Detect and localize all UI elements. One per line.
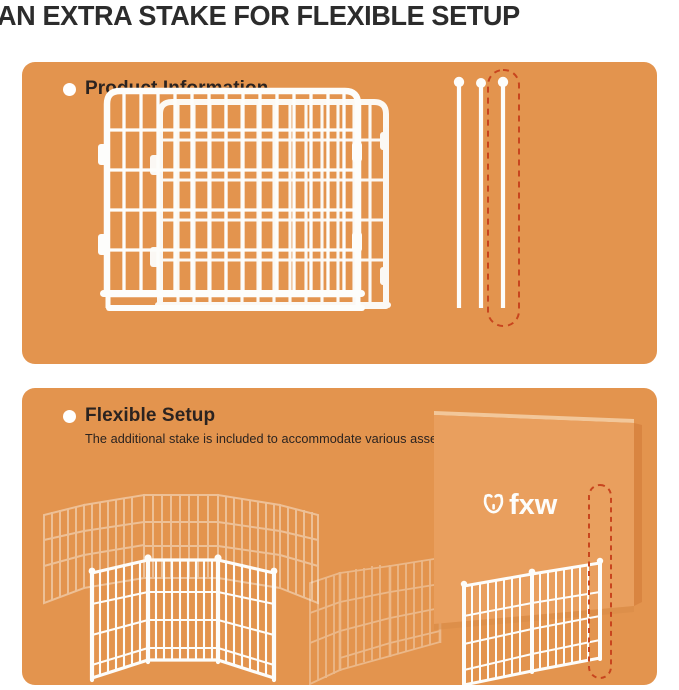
front-fence-panel xyxy=(98,91,365,311)
ground-stake-1 xyxy=(454,77,464,308)
ground-stake-3-highlighted xyxy=(498,77,508,308)
flexible-setup-illustration-stage: fxw xyxy=(22,388,657,685)
flexible-setup-card: Flexible Setup The additional stake is i… xyxy=(22,388,657,685)
octagon-playpen-illustration xyxy=(44,495,318,680)
ground-stakes-group xyxy=(454,70,519,326)
page-title: AN EXTRA STAKE FOR FLEXIBLE SETUP xyxy=(0,0,677,33)
product-information-illustration-stage xyxy=(22,62,657,364)
product-information-card: Product Information xyxy=(22,62,657,364)
product-feature-page: AN EXTRA STAKE FOR FLEXIBLE SETUP Produc… xyxy=(0,0,679,690)
ground-stake-2 xyxy=(476,78,486,308)
wall-mounted-fence-illustration: fxw xyxy=(310,411,642,685)
fxw-wordmark: fxw xyxy=(509,489,558,521)
